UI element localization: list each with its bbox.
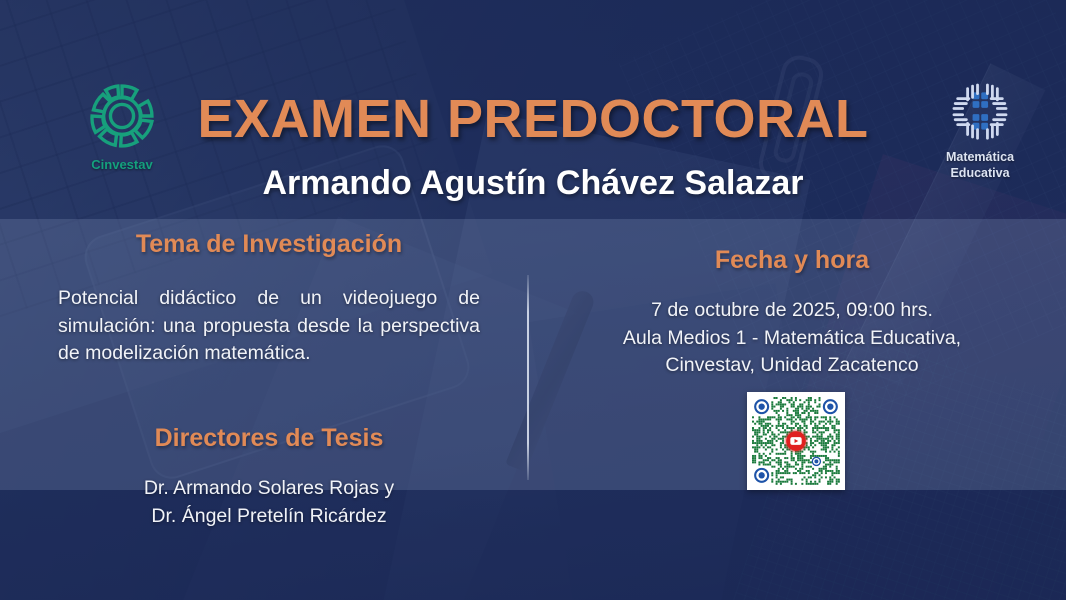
tema-heading: Tema de Investigación [34,230,504,259]
presenter-name: Armando Agustín Chávez Salazar [0,164,1066,203]
poster-title: EXAMEN PREDOCTORAL [0,88,1066,150]
director-name: Dr. Ángel Pretelín Ricárdez [34,503,504,531]
qr-code[interactable] [747,392,845,490]
left-column: Tema de Investigación Potencial didáctic… [34,230,504,530]
directores-list: Dr. Armando Solares Rojas y Dr. Ángel Pr… [34,475,504,530]
fecha-line: Cinvestav, Unidad Zacatenco [552,352,1032,380]
fecha-heading: Fecha y hora [552,246,1032,275]
poster-canvas: Cinvestav [0,0,1066,600]
poster-header: Cinvestav [0,0,1066,219]
column-divider [527,275,529,480]
qr-code-canvas[interactable] [752,397,840,485]
director-name: Dr. Armando Solares Rojas y [34,475,504,503]
fecha-details: 7 de octubre de 2025, 09:00 hrs. Aula Me… [552,297,1032,380]
right-column: Fecha y hora 7 de octubre de 2025, 09:00… [552,246,1032,380]
directores-heading: Directores de Tesis [34,424,504,453]
fecha-line: Aula Medios 1 - Matemática Educativa, [552,325,1032,353]
fecha-line: 7 de octubre de 2025, 09:00 hrs. [552,297,1032,325]
tema-text: Potencial didáctico de un videojuego de … [34,285,504,368]
